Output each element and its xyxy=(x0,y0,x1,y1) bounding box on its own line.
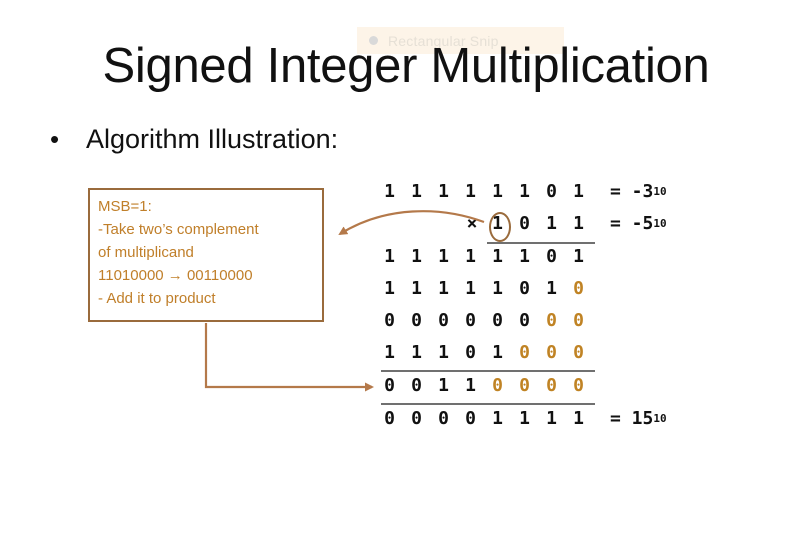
arrow-msb-to-note xyxy=(340,211,484,234)
slide-canvas: Rectangular Snip Signed Integer Multipli… xyxy=(0,0,812,547)
arrow-note-to-addend xyxy=(206,323,372,387)
annotation-arrows xyxy=(0,0,812,547)
